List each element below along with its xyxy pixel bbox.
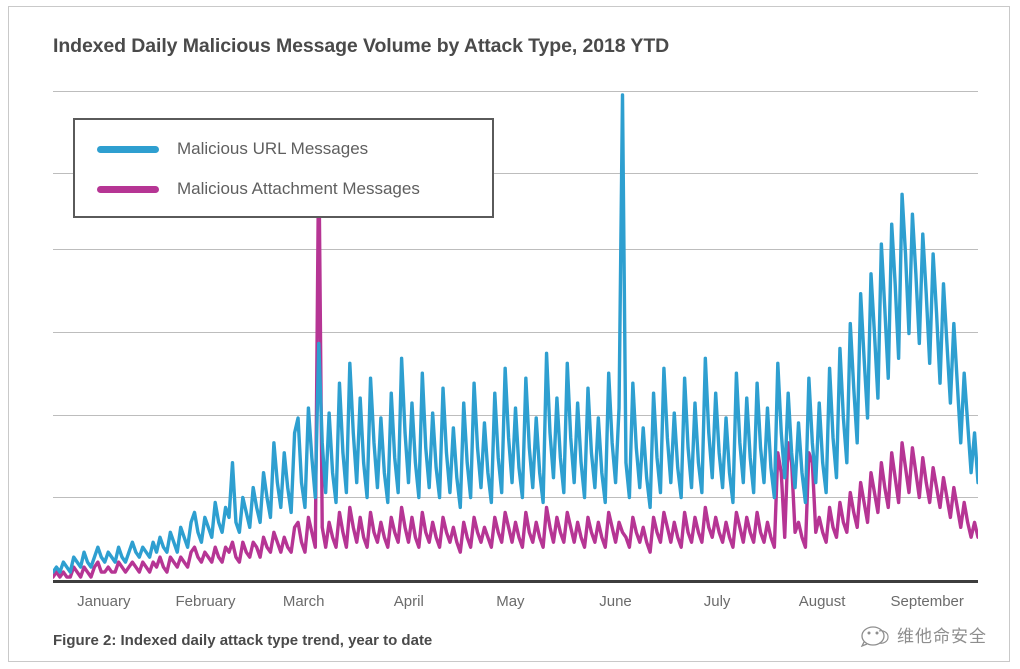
- x-tick-label-july: July: [704, 593, 731, 610]
- figure-caption: Figure 2: Indexed daily attack type tren…: [53, 632, 432, 649]
- x-tick-label-february: February: [175, 593, 235, 610]
- legend-label-url: Malicious URL Messages: [177, 139, 368, 159]
- x-tick-label-january: January: [77, 593, 130, 610]
- x-tick-label-march: March: [283, 593, 325, 610]
- legend-item-attachment: Malicious Attachment Messages: [97, 179, 420, 199]
- figure-container: Indexed Daily Malicious Message Volume b…: [8, 6, 1010, 662]
- legend-swatch-url: [97, 146, 159, 153]
- chart-legend: Malicious URL Messages Malicious Attachm…: [73, 118, 494, 218]
- watermark: 维他命安全: [860, 622, 987, 647]
- x-tick-label-september: September: [891, 593, 964, 610]
- x-axis-tick-labels: JanuaryFebruaryMarchAprilMayJuneJulyAugu…: [53, 593, 978, 613]
- page-title: Indexed Daily Malicious Message Volume b…: [53, 35, 669, 58]
- legend-item-url: Malicious URL Messages: [97, 139, 368, 159]
- legend-swatch-attachment: [97, 186, 159, 193]
- x-tick-label-april: April: [394, 593, 424, 610]
- x-tick-label-may: May: [496, 593, 524, 610]
- x-tick-label-august: August: [799, 593, 846, 610]
- x-axis-baseline: [53, 580, 978, 583]
- legend-label-attachment: Malicious Attachment Messages: [177, 179, 420, 199]
- x-tick-label-june: June: [599, 593, 632, 610]
- wechat-ghost-icon: [860, 623, 890, 647]
- watermark-text: 维他命安全: [897, 622, 987, 647]
